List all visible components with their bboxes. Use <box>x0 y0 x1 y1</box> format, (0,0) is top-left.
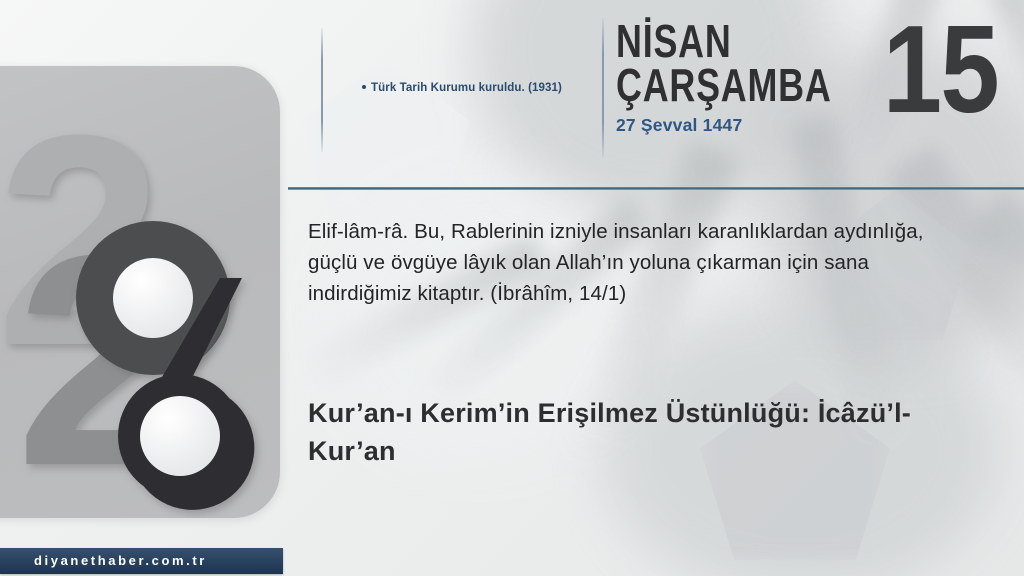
footer-bar: diyanethaber.com.tr <box>0 548 283 574</box>
anniversary-text: Türk Tarih Kurumu kuruldu. (1931) <box>371 82 562 94</box>
hijri-date-label: 27 Şevval 1447 <box>616 115 856 136</box>
vertical-divider-left <box>321 28 323 152</box>
vertical-divider-right <box>602 18 604 158</box>
horizontal-divider <box>288 187 1024 190</box>
bullet-dot-icon <box>362 85 366 89</box>
month-label: NİSAN <box>616 20 803 62</box>
verse-text: Elif-lâm-râ. Bu, Rablerinin izniyle insa… <box>308 216 956 309</box>
anniversary-note: Türk Tarih Kurumu kuruldu. (1931) <box>362 80 592 96</box>
weekday-label: ÇARŞAMBA <box>616 64 803 106</box>
date-block: NİSAN ÇARŞAMBA 27 Şevval 1447 <box>616 20 856 136</box>
year-panel: 2 2 <box>0 66 280 518</box>
calendar-page: 2 2 Türk T <box>0 0 1024 576</box>
day-number: 15 <box>883 8 998 132</box>
footer-site-label: diyanethaber.com.tr <box>34 548 207 574</box>
article-title: Kur’an-ı Kerim’in Erişilmez Üstünlüğü: İ… <box>308 394 948 470</box>
year-2026-graphic: 2 2 <box>0 66 280 518</box>
